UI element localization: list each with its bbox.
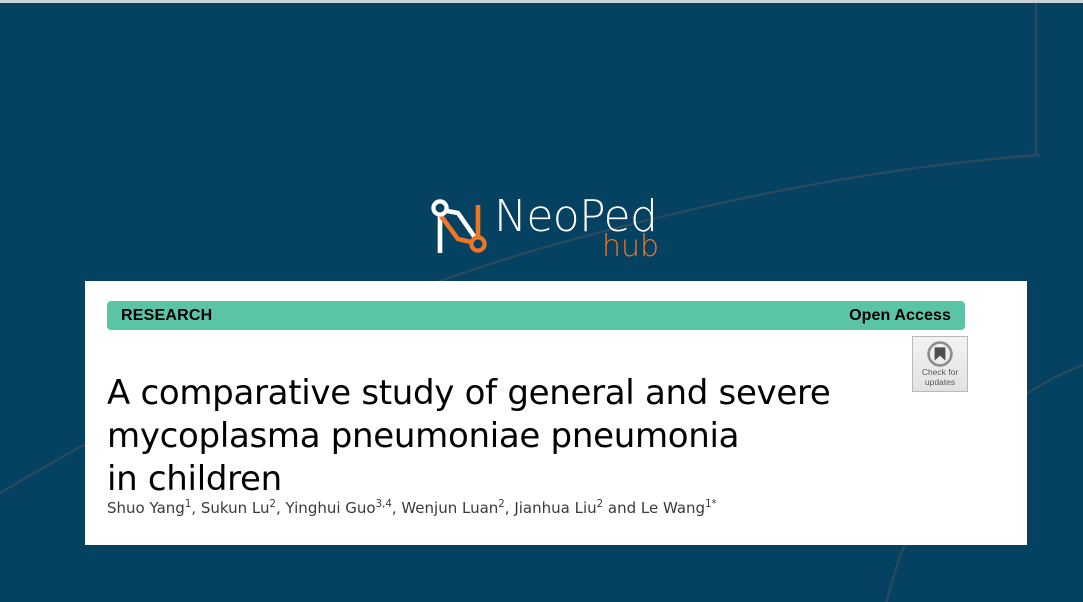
check-for-updates-label: Check for updates xyxy=(922,368,958,387)
author-affiliation-marker: 1* xyxy=(705,499,717,510)
article-title-line: in children xyxy=(107,458,897,501)
author-separator: , xyxy=(276,499,286,517)
article-title-line: A comparative study of general and sever… xyxy=(107,372,897,415)
author-name: Le Wang xyxy=(641,499,705,517)
open-access-bar: RESEARCH Open Access xyxy=(107,301,965,330)
author-list: Shuo Yang1, Sukun Lu2, Yinghui Guo3,4, W… xyxy=(107,499,967,519)
author-affiliation-marker: 3,4 xyxy=(376,499,392,510)
author-name: Sukun Lu xyxy=(201,499,270,517)
open-access-label: Open Access xyxy=(849,307,951,325)
author-name: Jianhua Liu xyxy=(514,499,596,517)
article-type-label: RESEARCH xyxy=(121,307,212,325)
neoped-hub-logo[interactable]: NeoPed hub xyxy=(428,199,668,269)
article-title: A comparative study of general and sever… xyxy=(107,372,897,502)
author-name: Shuo Yang xyxy=(107,499,185,517)
author-separator: , xyxy=(392,499,402,517)
crossmark-check-for-updates-icon xyxy=(927,341,953,367)
check-for-updates-badge[interactable]: Check for updates xyxy=(912,336,968,392)
author-name: Yinghui Guo xyxy=(286,499,376,517)
author-separator: and xyxy=(603,499,641,517)
author-separator: , xyxy=(191,499,201,517)
neoped-network-mark-icon xyxy=(428,199,490,257)
logo-sub-wordmark: hub xyxy=(602,232,659,262)
article-header-card: RESEARCH Open Access A comparative study… xyxy=(85,281,1027,545)
author-name: Wenjun Luan xyxy=(401,499,498,517)
author-separator: , xyxy=(505,499,515,517)
article-cover-screen: NeoPed hub RESEARCH Open Access A compar… xyxy=(0,0,1083,602)
article-title-line: mycoplasma pneumoniae pneumonia xyxy=(107,415,897,458)
